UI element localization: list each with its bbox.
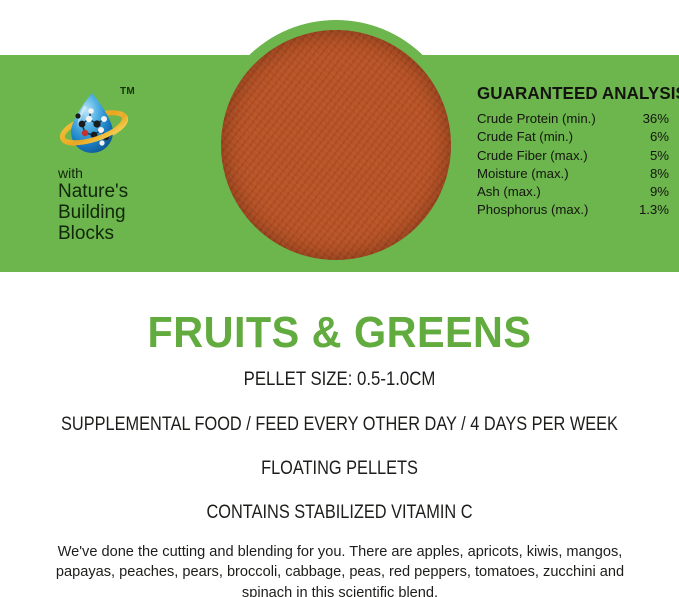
brand-logo: TM with Nature's Building Blocks [58,88,183,244]
analysis-value: 8% [630,166,669,184]
guaranteed-analysis-table: Crude Protein (min.) 36% Crude Fat (min.… [477,111,669,221]
fish-food-pellets-photo [221,30,451,260]
table-row: Moisture (max.) 8% [477,166,669,184]
page-title: FRUITS & GREENS [20,308,658,358]
analysis-label: Moisture (max.) [477,166,630,184]
analysis-label: Crude Fat (min.) [477,129,630,147]
analysis-value: 36% [630,111,669,129]
analysis-label: Ash (max.) [477,184,630,202]
vitamin-c-text: CONTAINS STABILIZED VITAMIN C [48,502,632,524]
analysis-label: Phosphorus (max.) [477,202,630,220]
floating-pellets-text: FLOATING PELLETS [48,458,632,480]
guaranteed-analysis-panel: GUARANTEED ANALYSIS Crude Protein (min.)… [477,83,669,221]
trademark-symbol: TM [120,86,135,97]
table-row: Phosphorus (max.) 1.3% [477,202,669,220]
pellet-size-text: PELLET SIZE: 0.5-1.0CM [48,368,632,391]
analysis-value: 1.3% [630,202,669,220]
table-row: Crude Fat (min.) 6% [477,129,669,147]
table-row: Crude Fiber (max.) 5% [477,148,669,166]
brand-name-line-3: Blocks [58,223,183,244]
guaranteed-analysis-title: GUARANTEED ANALYSIS [477,83,663,104]
analysis-value: 6% [630,129,669,147]
feeding-instructions-text: SUPPLEMENTAL FOOD / FEED EVERY OTHER DAY… [48,414,632,436]
product-description: We've done the cutting and blending for … [46,542,634,597]
analysis-label: Crude Fiber (max.) [477,148,630,166]
analysis-label: Crude Protein (min.) [477,111,630,129]
table-row: Ash (max.) 9% [477,184,669,202]
product-info-section: FRUITS & GREENS PELLET SIZE: 0.5-1.0CM S… [0,292,679,597]
brand-name-line-2: Building [58,202,183,223]
brand-with-label: with [58,166,183,181]
pellet-texture-overlay [221,30,451,260]
table-row: Crude Protein (min.) 36% [477,111,669,129]
analysis-value: 9% [630,184,669,202]
brand-name-line-1: Nature's [58,181,183,202]
water-droplet-molecule-icon: TM [58,88,134,162]
analysis-value: 5% [630,148,669,166]
product-label: TM with Nature's Building Blocks GUARANT… [0,0,679,597]
